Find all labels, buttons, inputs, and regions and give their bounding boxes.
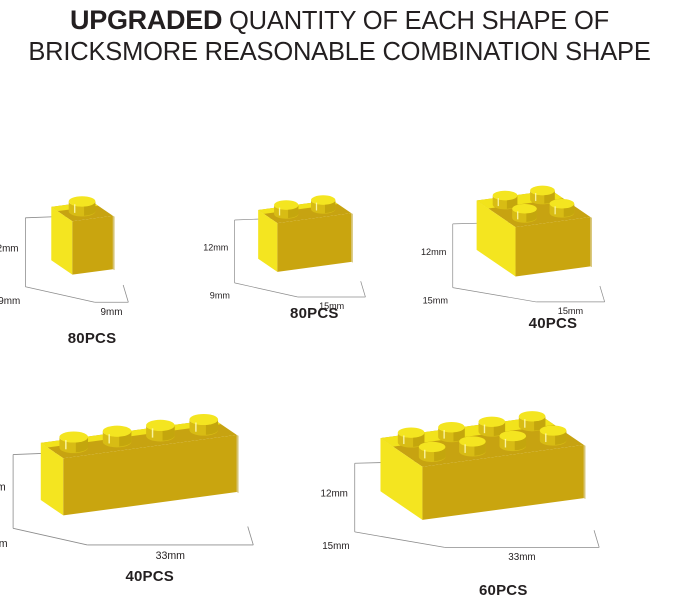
brick-1x1-width-label: 9mm [101,307,123,318]
title-line-1: UPGRADED QUANTITY OF EACH SHAPE OF [0,4,679,37]
brick-1x4-stud [189,414,218,436]
brick-1x2-stud [311,195,335,213]
brick-1x1-drawing: 12mm9mm9mm [6,150,196,335]
brick-cell-3: 12mm9mm33mm40PCS [0,382,324,580]
page-title: UPGRADED QUANTITY OF EACH SHAPE OF BRICK… [0,4,679,68]
brick-1x4-stud [103,426,132,448]
brick-2x4-width-label: 33mm [508,552,535,563]
brick-2x4-stud [419,442,446,462]
brick-1x2-height-label: 12mm [203,243,228,253]
brick-1x2-body [258,200,353,272]
brick-2x4-quantity: 60PCS [326,582,679,599]
brick-1x4-height-label: 12mm [0,482,6,494]
brick-2x4-stud [540,425,567,445]
brick-1x4-stud [146,420,175,442]
brick-2x2-quantity: 40PCS [440,315,666,332]
brick-cell-2: 12mm15mm15mm40PCS [440,142,662,335]
brick-2x2-height-label: 12mm [421,247,447,257]
title-emphasis: UPGRADED [70,5,222,35]
brick-2x2-depth-label: 15mm [423,296,449,306]
brick-2x4-height-label: 12mm [320,489,347,500]
title-line-1-rest: QUANTITY OF EACH SHAPE OF [222,7,609,35]
brick-1x4-depth-label: 9mm [0,538,8,550]
brick-cell-1: 12mm9mm15mm80PCS [222,150,422,335]
brick-1x4-drawing: 12mm9mm33mm [0,382,324,580]
infographic-canvas: UPGRADED QUANTITY OF EACH SHAPE OF BRICK… [0,0,679,583]
brick-2x4-drawing: 12mm15mm33mm [326,378,676,580]
brick-1x1-stud [69,196,96,216]
brick-2x4-depth-label: 15mm [322,541,349,552]
brick-cell-4: 12mm15mm33mm60PCS [326,378,676,580]
brick-2x4-stud [459,436,486,456]
brick-2x4-stud [499,431,526,451]
brick-1x1-quantity: 80PCS [6,330,178,347]
title-line-2: BRICKSMORE REASONABLE COMBINATION SHAPE [0,37,679,68]
brick-1x1-height-label: 12mm [0,243,19,254]
brick-1x1-studs [69,196,96,216]
brick-2x2-stud [550,199,575,218]
brick-1x4-stud [59,431,88,453]
brick-1x2-depth-label: 9mm [210,291,230,301]
brick-cell-0: 12mm9mm9mm80PCS [6,150,196,335]
brick-1x2-stud [274,200,298,218]
brick-2x2-stud [512,204,537,223]
brick-1x1-depth-label: 9mm [0,296,20,307]
brick-1x2-quantity: 80PCS [222,305,407,322]
brick-2x2-drawing: 12mm15mm15mm [440,142,662,335]
brick-1x4-width-label: 33mm [156,550,186,562]
